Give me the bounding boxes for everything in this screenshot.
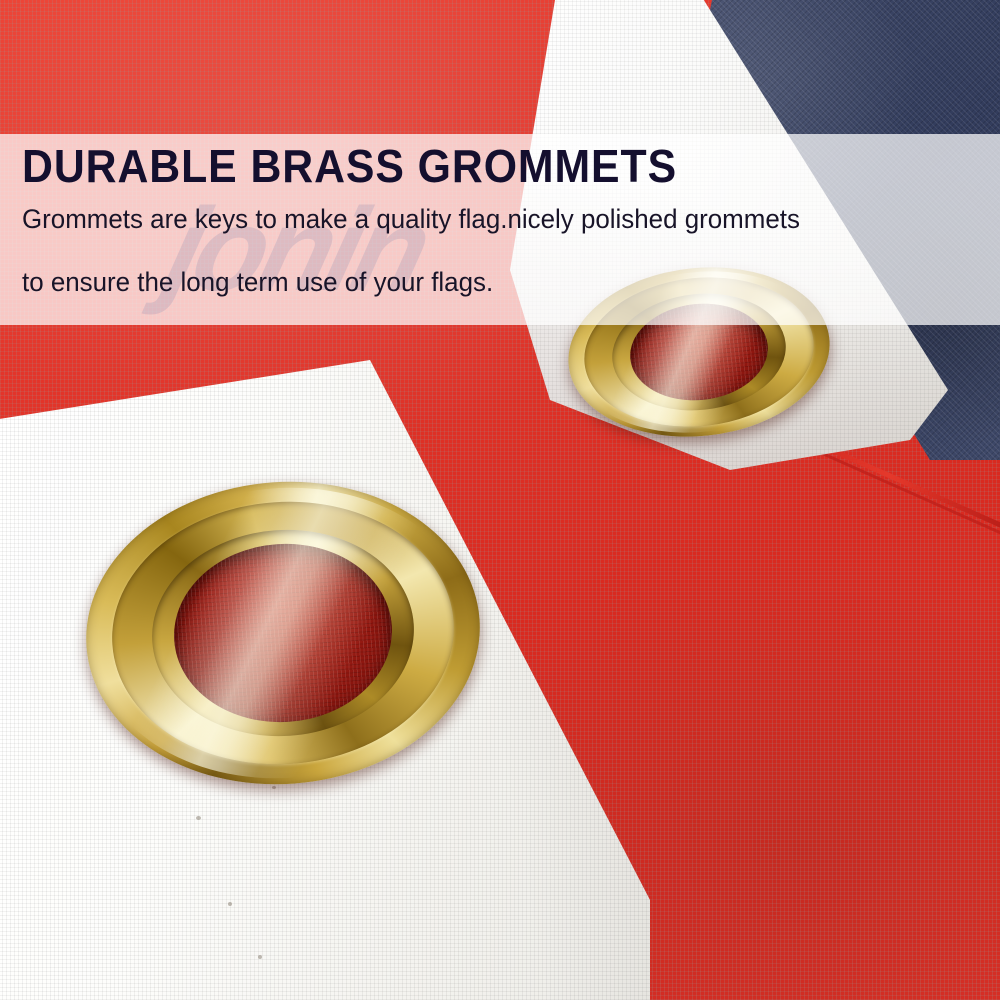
fabric-speck	[258, 955, 262, 959]
fabric-speck	[228, 902, 232, 906]
grommet-large-lower-left	[76, 469, 490, 798]
fabric-speck	[196, 816, 201, 820]
fabric-speck	[272, 786, 276, 789]
product-photo-banner: jonin DURABLE BRASS GROMMETS Grommets ar…	[0, 0, 1000, 1000]
banner-body-line-2: to ensure the long term use of your flag…	[22, 267, 493, 298]
banner-title: DURABLE BRASS GROMMETS	[22, 142, 677, 190]
text-overlay-band: jonin DURABLE BRASS GROMMETS Grommets ar…	[0, 134, 1000, 325]
banner-body-line-1: Grommets are keys to make a quality flag…	[22, 204, 800, 235]
